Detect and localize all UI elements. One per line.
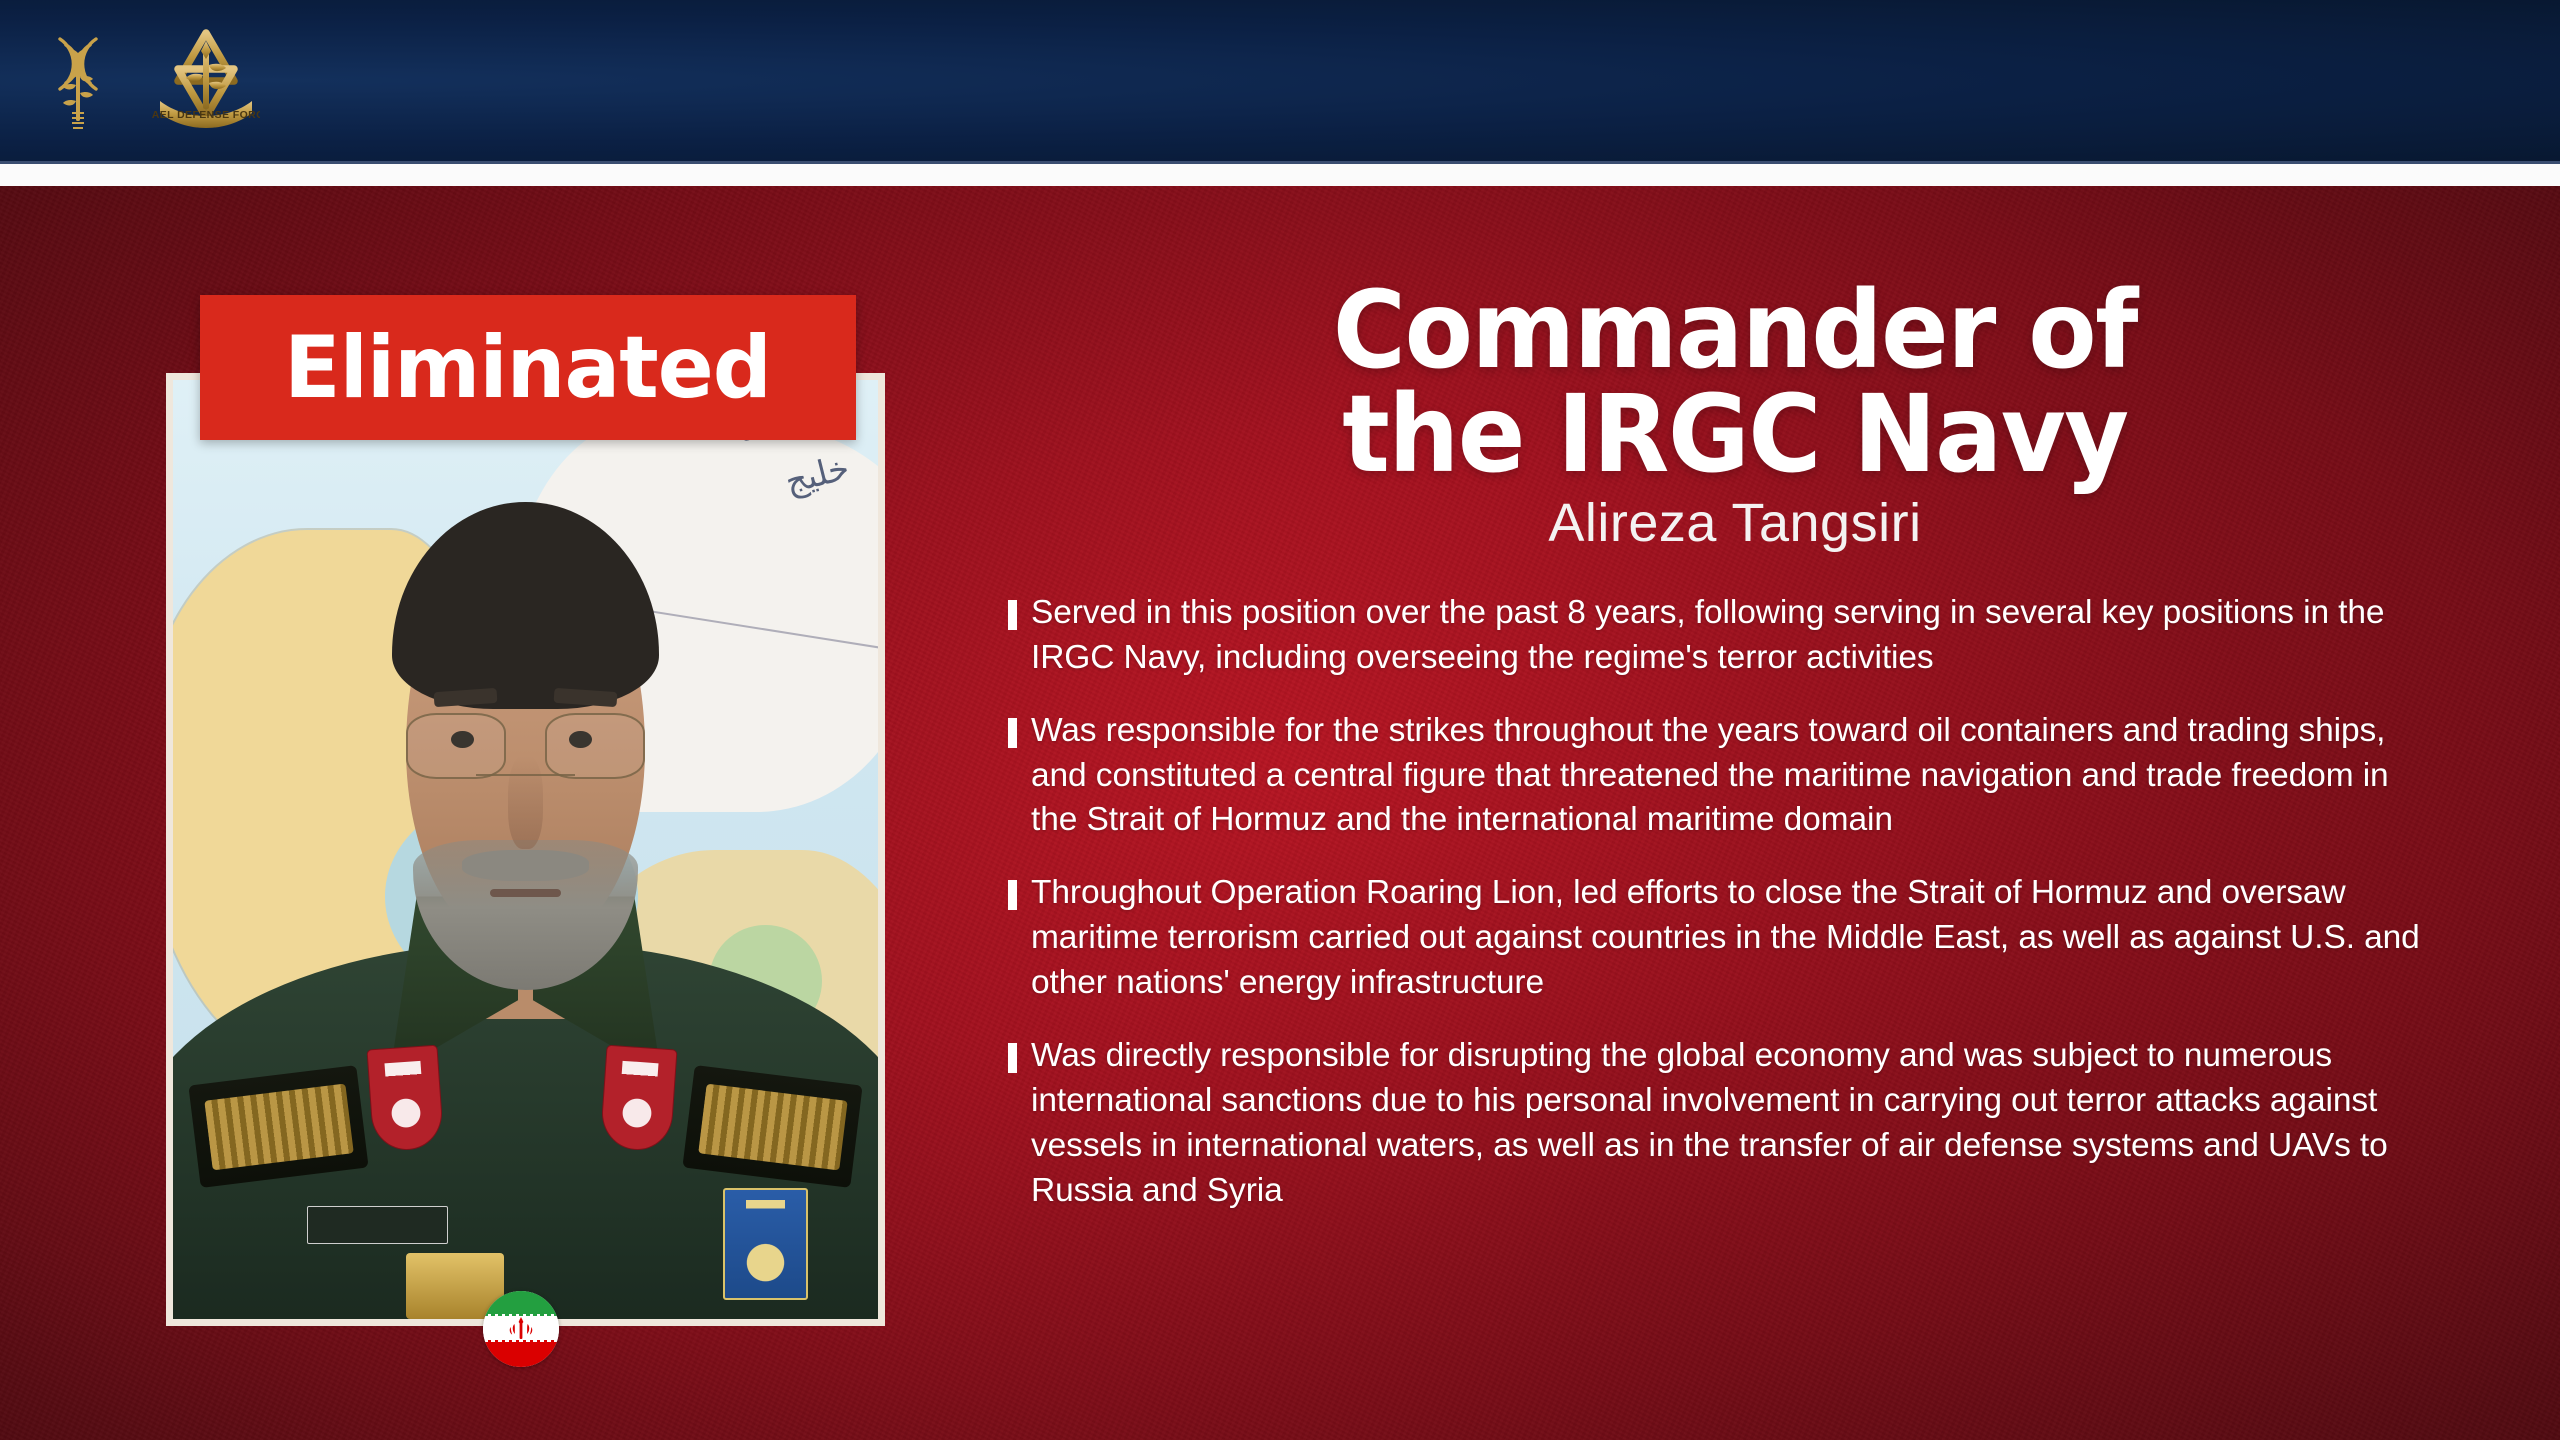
status-badge-label: Eliminated [285,325,772,411]
header-bar: ISRAEL DEFENSE FORCES [0,0,2560,161]
list-item-text: Served in this position over the past 8 … [1031,591,2427,681]
idf-spokesperson-unit-logo-icon [42,25,114,137]
rank-insignia-glyph-right [618,1061,659,1136]
iran-flag-emblem-icon [506,1316,536,1342]
status-badge: Eliminated [200,295,856,440]
list-item-text: Was responsible for the strikes througho… [1031,709,2427,844]
epaulette-gold-braid-left [204,1083,354,1170]
irgc-chest-patch [723,1188,808,1301]
iran-flag-red-stripe [483,1342,559,1367]
iran-flag-badge [483,1291,559,1367]
bullet-list: Served in this position over the past 8 … [1000,591,2470,1214]
irgc-chest-patch-glyph [746,1200,785,1287]
header-logo-group: ISRAEL DEFENSE FORCES [42,23,260,139]
eyeglass-lens-left [406,713,507,779]
page-title-line-2: the IRGC Navy [1051,384,2418,488]
uniform-epaulette-left [188,1065,369,1188]
iran-flag-green-stripe [483,1291,559,1316]
uniform-name-tag [307,1206,448,1244]
subject-mustache [462,850,589,882]
bullet-marker-icon [1008,718,1017,748]
portrait-photo-inner: خليج فا [173,380,878,1319]
list-item-text: Throughout Operation Roaring Lion, led e… [1031,871,2427,1006]
bullet-marker-icon [1008,1043,1017,1073]
bullet-marker-icon [1008,600,1017,630]
israel-defense-forces-emblem-icon: ISRAEL DEFENSE FORCES [152,23,260,139]
list-item: Was responsible for the strikes througho… [1000,709,2470,844]
portrait-photo: خليج فا [166,373,885,1326]
content-column: Commander of the IRGC Navy Alireza Tangs… [1000,280,2470,1241]
list-item-text: Was directly responsible for disrupting … [1031,1034,2427,1214]
white-separator-band [0,164,2560,186]
page-subtitle: Alireza Tangsiri [1000,494,2470,553]
subject-hair [392,502,660,709]
list-item: Throughout Operation Roaring Lion, led e… [1000,871,2470,1006]
infographic-root: ISRAEL DEFENSE FORCES خليج فا [0,0,2560,1440]
rank-insignia-left [367,1044,445,1152]
list-item: Served in this position over the past 8 … [1000,591,2470,681]
portrait-subject [173,380,878,1319]
bullet-marker-icon [1008,880,1017,910]
subject-nose [508,756,543,850]
eyeglass-lens-right [545,713,646,779]
subject-mouth [490,889,561,897]
epaulette-gold-braid-right [697,1083,847,1170]
rank-insignia-glyph-left [385,1061,426,1136]
list-item: Was directly responsible for disrupting … [1000,1034,2470,1214]
page-title: Commander of the IRGC Navy [1051,280,2418,488]
uniform-epaulette-right [682,1065,863,1188]
page-title-line-1: Commander of [1051,280,2418,384]
idf-emblem-ribbon-text: ISRAEL DEFENSE FORCES [152,109,260,121]
